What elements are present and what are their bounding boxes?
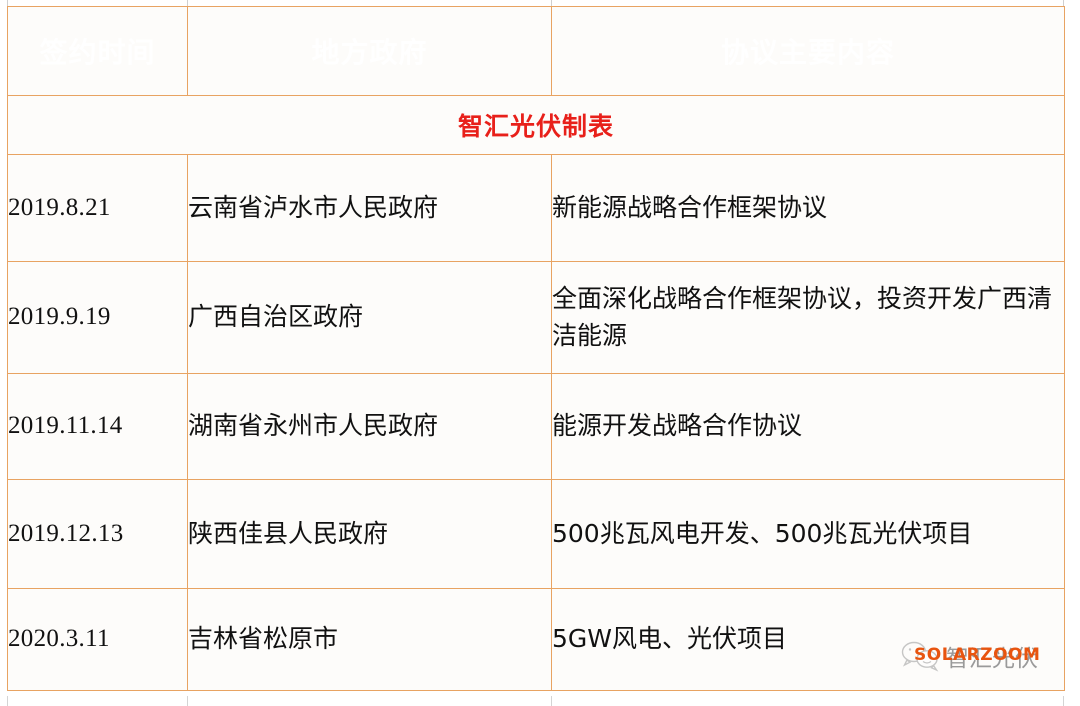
table-row: 2019.12.13 陕西佳县人民政府 500兆瓦风电开发、500兆瓦光伏项目 — [8, 480, 1065, 589]
cell-sign-date: 2019.9.19 — [8, 262, 188, 374]
cell-sign-date: 2020.3.11 — [8, 589, 188, 691]
cell-local-government: 陕西佳县人民政府 — [188, 480, 552, 589]
cell-local-government: 吉林省松原市 — [188, 589, 552, 691]
credit-note-row: 智汇光伏制表 — [8, 96, 1065, 155]
table-row: 2020.3.11 吉林省松原市 5GW风电、光伏项目 — [8, 589, 1065, 691]
cell-agreement-content: 新能源战略合作框架协议 — [552, 155, 1065, 262]
cell-local-government: 湖南省永州市人民政府 — [188, 374, 552, 480]
agreement-table: 签约时间 地方政府 协议主要内容 智汇光伏制表 2019.8.21 云南省泸水市… — [7, 6, 1065, 691]
table-row: 2019.8.21 云南省泸水市人民政府 新能源战略合作框架协议 — [8, 155, 1065, 262]
column-header-agreement-content: 协议主要内容 — [552, 7, 1065, 96]
cell-agreement-content: 5GW风电、光伏项目 — [552, 589, 1065, 691]
credit-note: 智汇光伏制表 — [8, 96, 1065, 155]
cell-sign-date: 2019.11.14 — [8, 374, 188, 480]
table-header-row: 签约时间 地方政府 协议主要内容 — [8, 7, 1065, 96]
truncated-row-below — [0, 696, 1080, 706]
table-row: 2019.9.19 广西自治区政府 全面深化战略合作框架协议，投资开发广西清洁能… — [8, 262, 1065, 374]
cell-agreement-content: 能源开发战略合作协议 — [552, 374, 1065, 480]
cell-local-government: 广西自治区政府 — [188, 262, 552, 374]
table-row: 2019.11.14 湖南省永州市人民政府 能源开发战略合作协议 — [8, 374, 1065, 480]
cell-sign-date: 2019.8.21 — [8, 155, 188, 262]
cell-agreement-content: 500兆瓦风电开发、500兆瓦光伏项目 — [552, 480, 1065, 589]
column-header-sign-date: 签约时间 — [8, 7, 188, 96]
cell-local-government: 云南省泸水市人民政府 — [188, 155, 552, 262]
cell-agreement-content: 全面深化战略合作框架协议，投资开发广西清洁能源 — [552, 262, 1065, 374]
cell-sign-date: 2019.12.13 — [8, 480, 188, 589]
column-header-local-government: 地方政府 — [188, 7, 552, 96]
